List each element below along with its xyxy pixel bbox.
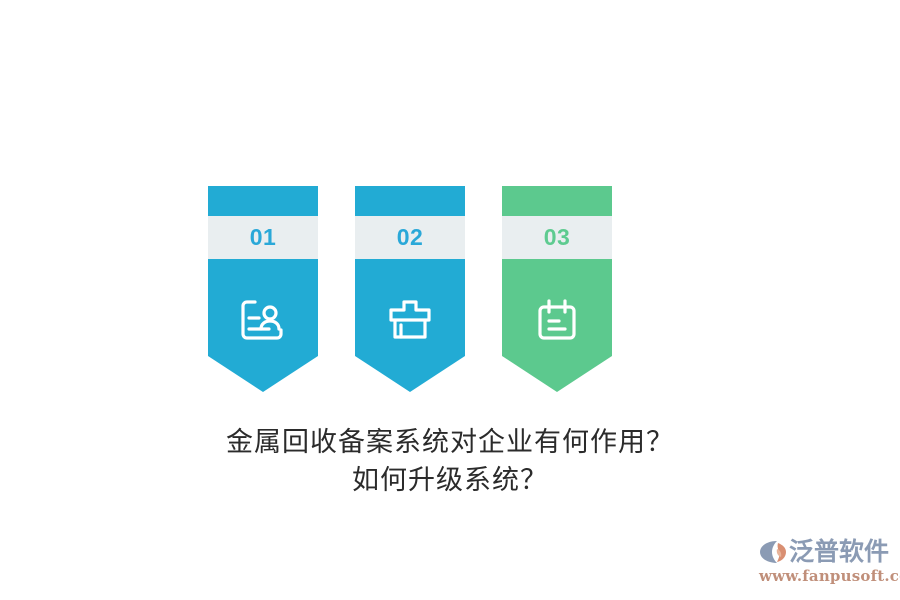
ribbon-number-label: 01 xyxy=(250,226,277,249)
ribbon-number-label: 02 xyxy=(397,226,424,249)
fanpu-swoosh-logo-icon xyxy=(757,537,787,567)
brand-lockup: 泛普软件 xyxy=(757,536,897,568)
ribbon-item-01[interactable]: 01 xyxy=(208,186,318,392)
ribbon-number-band: 02 xyxy=(355,216,465,259)
ribbon-number-band: 01 xyxy=(208,216,318,259)
ribbon-number-label: 03 xyxy=(544,226,571,249)
store-icon xyxy=(355,298,465,342)
headline-line-1: 金属回收备案系统对企业有何作用？ xyxy=(0,424,900,462)
ribbon-number-band: 03 xyxy=(502,216,612,259)
ribbon-item-03[interactable]: 03 xyxy=(502,186,612,392)
slide-canvas: 01 02 xyxy=(0,0,900,600)
brand-name: 泛普软件 xyxy=(789,537,889,567)
ribbon-group: 01 02 xyxy=(208,186,618,396)
headline-line-2: 如何升级系统？ xyxy=(0,462,900,500)
brand-watermark: 泛普软件 www.fanpusoft.com xyxy=(757,536,897,588)
brand-url: www.fanpusoft.com xyxy=(757,567,897,585)
headline: 金属回收备案系统对企业有何作用？ 如何升级系统？ xyxy=(0,424,900,500)
ribbon-item-02[interactable]: 02 xyxy=(355,186,465,392)
notepad-calendar-icon xyxy=(502,298,612,342)
id-card-icon xyxy=(208,298,318,342)
